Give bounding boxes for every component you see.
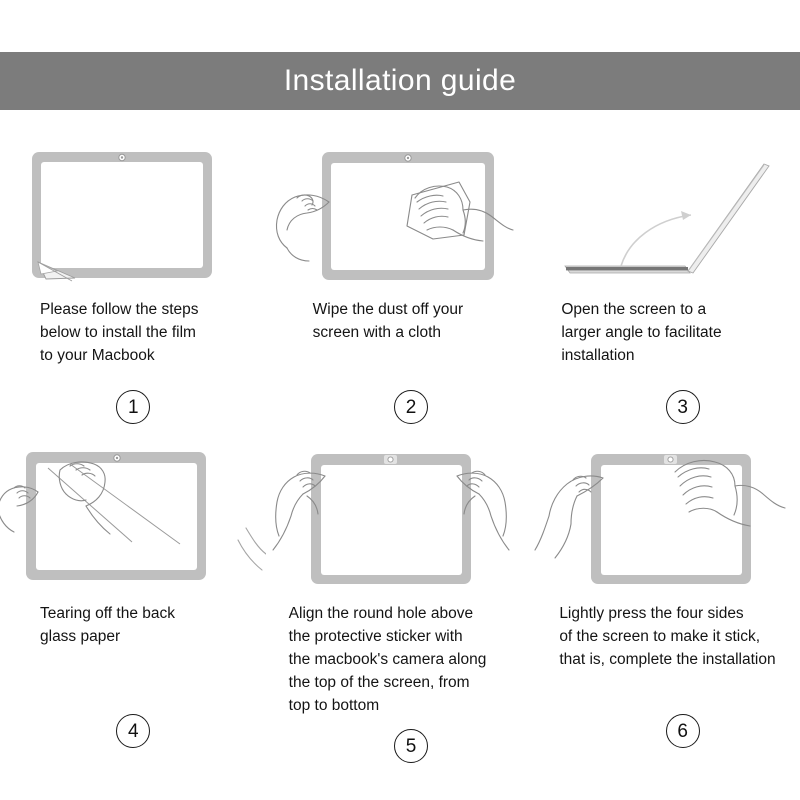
caption-line: larger angle to facilitate xyxy=(561,324,721,341)
step-card-5: Align the round hole above the protectiv… xyxy=(267,444,534,769)
steps-row-bottom: Tearing off the back glass paper 4 xyxy=(0,444,800,769)
step-3-badge-wrap: 3 xyxy=(533,384,800,430)
step-2-caption: Wipe the dust off your screen with a clo… xyxy=(267,290,534,382)
steps-row-top: Please follow the steps below to install… xyxy=(0,140,800,430)
step-6-illustration xyxy=(533,444,800,594)
caption-line: Open the screen to a xyxy=(561,301,706,318)
caption-line: below to install the film xyxy=(40,324,196,341)
page-title: Installation guide xyxy=(284,66,516,96)
step-number-badge: 6 xyxy=(666,714,700,748)
step-number-badge: 3 xyxy=(666,390,700,424)
caption-line: top to bottom xyxy=(289,697,379,714)
caption-line: the macbook's camera along xyxy=(289,651,487,668)
step-card-6: Lightly press the four sides of the scre… xyxy=(533,444,800,769)
steps-grid: Please follow the steps below to install… xyxy=(0,140,800,769)
step-4-badge-wrap: 4 xyxy=(0,708,267,754)
step-card-1: Please follow the steps below to install… xyxy=(0,140,267,430)
caption-line: Lightly press the four sides xyxy=(559,605,743,622)
step-5-caption: Align the round hole above the protectiv… xyxy=(267,594,534,717)
step-3-caption: Open the screen to a larger angle to fac… xyxy=(533,290,800,382)
step-number-badge: 2 xyxy=(394,390,428,424)
installation-guide-page: Installation guide xyxy=(0,0,800,800)
step-card-4: Tearing off the back glass paper 4 xyxy=(0,444,267,769)
step-4-illustration xyxy=(0,444,267,594)
step-2-illustration xyxy=(267,140,534,290)
step-1-caption: Please follow the steps below to install… xyxy=(0,290,267,382)
step-1-badge-wrap: 1 xyxy=(0,384,267,430)
caption-line: of the screen to make it stick, xyxy=(559,628,760,645)
step-5-illustration xyxy=(267,444,534,594)
caption-line: Align the round hole above xyxy=(289,605,473,622)
step-card-3: Open the screen to a larger angle to fac… xyxy=(533,140,800,430)
caption-line: glass paper xyxy=(40,628,120,645)
step-card-2: Wipe the dust off your screen with a clo… xyxy=(267,140,534,430)
step-6-badge-wrap: 6 xyxy=(533,708,800,754)
step-number-badge: 4 xyxy=(116,714,150,748)
step-5-badge-wrap: 5 xyxy=(267,723,534,769)
caption-line: the top of the screen, from xyxy=(289,674,470,691)
caption-line: installation xyxy=(561,347,634,364)
caption-line: to your Macbook xyxy=(40,347,155,364)
step-2-badge-wrap: 2 xyxy=(267,384,534,430)
caption-line: that is, complete the installation xyxy=(559,651,775,668)
step-1-illustration xyxy=(0,140,267,290)
caption-line: the protective sticker with xyxy=(289,628,463,645)
step-4-caption: Tearing off the back glass paper xyxy=(0,594,267,702)
caption-line: screen with a cloth xyxy=(313,324,441,341)
step-6-caption: Lightly press the four sides of the scre… xyxy=(533,594,800,702)
step-3-illustration xyxy=(533,140,800,290)
step-number-badge: 1 xyxy=(116,390,150,424)
step-number-badge: 5 xyxy=(394,729,428,763)
caption-line: Wipe the dust off your xyxy=(313,301,464,318)
header-band: Installation guide xyxy=(0,52,800,110)
caption-line: Tearing off the back xyxy=(40,605,175,622)
caption-line: Please follow the steps xyxy=(40,301,199,318)
